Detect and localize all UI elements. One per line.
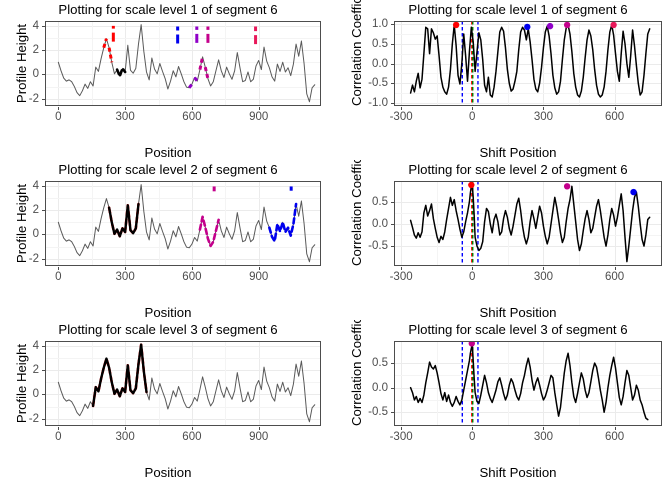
series-line-correlation <box>411 344 648 419</box>
y-tick-mark <box>42 346 45 347</box>
panel-scale-1-correlation: Plotting for scale level 1 of segment 6C… <box>336 0 672 160</box>
x-axis-label: Shift Position <box>350 465 672 480</box>
y-tick-label: 0.0 <box>336 219 388 229</box>
x-axis-label: Shift Position <box>350 305 672 320</box>
x-tick-label: 900 <box>234 431 284 443</box>
series-group <box>58 345 314 422</box>
panel-title: Plotting for scale level 1 of segment 6 <box>350 1 672 18</box>
x-tick-label: 0 <box>447 271 497 283</box>
black-peak <box>117 68 125 76</box>
blue-trace <box>269 204 296 241</box>
x-tick-mark <box>615 107 616 110</box>
panel-scale-2-correlation: Plotting for scale level 2 of segment 6C… <box>336 160 672 320</box>
y-tick-label: -0.5 <box>336 407 388 417</box>
x-tick-label: 600 <box>590 271 640 283</box>
x-tick-mark <box>615 267 616 270</box>
x-tick-label: -300 <box>376 431 426 443</box>
x-tick-mark <box>259 427 260 430</box>
peak-blue <box>630 189 636 195</box>
panel-scale-2-profile: Plotting for scale level 2 of segment 6P… <box>0 160 336 320</box>
y-tick-label: -2 <box>0 254 39 264</box>
x-tick-mark <box>543 107 544 110</box>
y-tick-label: 0.5 <box>336 39 388 49</box>
peak-magenta <box>469 340 475 346</box>
y-tick-label: 4 <box>0 181 39 191</box>
y-tick-label: 0 <box>0 229 39 239</box>
y-tick-mark <box>391 246 394 247</box>
x-tick-label: 0 <box>447 431 497 443</box>
x-tick-label: 600 <box>590 111 640 123</box>
panel-title: Plotting for scale level 2 of segment 6 <box>350 161 672 178</box>
series-line-correlation <box>411 185 650 262</box>
x-tick-label: 300 <box>100 271 150 283</box>
y-tick-label: 2 <box>0 45 39 55</box>
purple-block-1 <box>189 84 192 88</box>
peak-crimson <box>610 22 616 28</box>
x-tick-mark <box>401 427 402 430</box>
peak-purple <box>547 23 553 29</box>
y-tick-mark <box>42 186 45 187</box>
x-tick-label: 600 <box>167 431 217 443</box>
x-tick-label: 0 <box>33 431 83 443</box>
y-tick-mark <box>42 74 45 75</box>
x-tick-mark <box>58 267 59 270</box>
y-tick-mark <box>391 202 394 203</box>
x-tick-mark <box>192 427 193 430</box>
x-tick-label: -300 <box>376 271 426 283</box>
x-axis-label: Position <box>0 465 336 480</box>
plot-canvas <box>45 181 321 266</box>
x-tick-mark <box>472 427 473 430</box>
x-tick-mark <box>125 267 126 270</box>
purple-block-2 <box>195 77 198 81</box>
series-line-correlation <box>411 25 650 97</box>
y-tick-mark <box>42 394 45 395</box>
x-tick-label: 300 <box>100 111 150 123</box>
series-group <box>58 25 314 102</box>
series-line-profile <box>58 185 314 262</box>
peak-magenta <box>564 22 570 28</box>
black-trace-left <box>109 204 138 236</box>
plot-area <box>394 21 662 106</box>
y-tick-mark <box>391 363 394 364</box>
x-tick-mark <box>259 267 260 270</box>
panel-scale-3-correlation: Plotting for scale level 3 of segment 6C… <box>336 320 672 480</box>
x-tick-label: 300 <box>518 111 568 123</box>
y-tick-label: -0.5 <box>336 241 388 251</box>
panel-scale-3-profile: Plotting for scale level 3 of segment 6P… <box>0 320 336 480</box>
panel-title: Plotting for scale level 1 of segment 6 <box>0 1 336 18</box>
x-tick-mark <box>543 267 544 270</box>
x-tick-label: 600 <box>167 271 217 283</box>
plot-canvas <box>45 21 321 106</box>
x-tick-mark <box>125 427 126 430</box>
x-tick-mark <box>472 107 473 110</box>
y-tick-label: 0.0 <box>336 383 388 393</box>
y-tick-label: -2 <box>0 94 39 104</box>
y-tick-mark <box>42 210 45 211</box>
x-tick-label: 300 <box>518 271 568 283</box>
y-tick-mark <box>42 259 45 260</box>
y-tick-mark <box>391 412 394 413</box>
x-axis-label: Position <box>0 145 336 160</box>
plot-area <box>45 181 321 266</box>
peak-magenta <box>564 183 570 189</box>
y-tick-mark <box>391 224 394 225</box>
black-trace <box>93 345 146 406</box>
figure-grid: Plotting for scale level 1 of segment 6P… <box>0 0 672 480</box>
panel-title: Plotting for scale level 3 of segment 6 <box>350 321 672 338</box>
panel-scale-1-profile: Plotting for scale level 1 of segment 6P… <box>0 0 336 160</box>
x-tick-mark <box>192 107 193 110</box>
y-tick-label: 0 <box>0 69 39 79</box>
plot-area <box>394 341 662 426</box>
y-tick-mark <box>391 103 394 104</box>
peak-blue <box>524 24 530 30</box>
x-tick-mark <box>125 107 126 110</box>
magenta-trace <box>200 217 219 246</box>
y-tick-label: 0.5 <box>336 197 388 207</box>
y-tick-mark <box>42 234 45 235</box>
plot-area <box>45 21 321 106</box>
x-tick-mark <box>615 427 616 430</box>
y-tick-label: 4 <box>0 341 39 351</box>
y-tick-mark <box>42 419 45 420</box>
y-tick-mark <box>391 388 394 389</box>
y-tick-mark <box>391 83 394 84</box>
series-group <box>411 181 650 266</box>
y-tick-mark <box>391 44 394 45</box>
peak-red <box>468 182 474 188</box>
x-axis-label: Position <box>0 305 336 320</box>
y-tick-mark <box>42 50 45 51</box>
y-tick-mark <box>391 24 394 25</box>
series-group <box>411 21 650 106</box>
series-group <box>411 340 648 426</box>
y-tick-label: -0.5 <box>336 78 388 88</box>
x-tick-label: 0 <box>447 111 497 123</box>
y-tick-mark <box>42 370 45 371</box>
x-tick-mark <box>401 267 402 270</box>
x-tick-mark <box>543 427 544 430</box>
y-tick-mark <box>42 99 45 100</box>
plot-area <box>394 181 662 266</box>
y-tick-label: 0.5 <box>336 358 388 368</box>
x-tick-label: 300 <box>100 431 150 443</box>
x-tick-mark <box>401 107 402 110</box>
x-tick-label: 600 <box>590 431 640 443</box>
x-tick-label: 900 <box>234 111 284 123</box>
x-tick-mark <box>472 267 473 270</box>
y-tick-label: 0 <box>0 389 39 399</box>
plot-canvas <box>394 341 662 426</box>
plot-canvas <box>394 181 662 266</box>
x-tick-mark <box>58 427 59 430</box>
series-line-profile <box>58 345 314 422</box>
y-tick-label: 4 <box>0 21 39 31</box>
x-tick-label: -300 <box>376 111 426 123</box>
x-tick-label: 0 <box>33 271 83 283</box>
x-tick-mark <box>58 107 59 110</box>
x-tick-label: 600 <box>167 111 217 123</box>
y-tick-label: 1.0 <box>336 19 388 29</box>
y-tick-label: 2 <box>0 365 39 375</box>
plot-canvas <box>394 21 662 106</box>
series-line-profile <box>58 25 314 102</box>
y-tick-label: 0.0 <box>336 59 388 69</box>
x-tick-mark <box>259 107 260 110</box>
x-tick-mark <box>192 267 193 270</box>
y-tick-mark <box>42 26 45 27</box>
x-tick-label: 900 <box>234 271 284 283</box>
x-tick-label: 0 <box>33 111 83 123</box>
plot-area <box>45 341 321 426</box>
plot-canvas <box>45 341 321 426</box>
x-axis-label: Shift Position <box>350 145 672 160</box>
peak-red <box>453 22 459 28</box>
y-tick-label: 2 <box>0 205 39 215</box>
series-group <box>58 185 314 262</box>
y-tick-label: -2 <box>0 414 39 424</box>
y-tick-label: -1.0 <box>336 98 388 108</box>
panel-title: Plotting for scale level 2 of segment 6 <box>0 161 336 178</box>
x-tick-label: 300 <box>518 431 568 443</box>
panel-title: Plotting for scale level 3 of segment 6 <box>0 321 336 338</box>
y-tick-mark <box>391 64 394 65</box>
